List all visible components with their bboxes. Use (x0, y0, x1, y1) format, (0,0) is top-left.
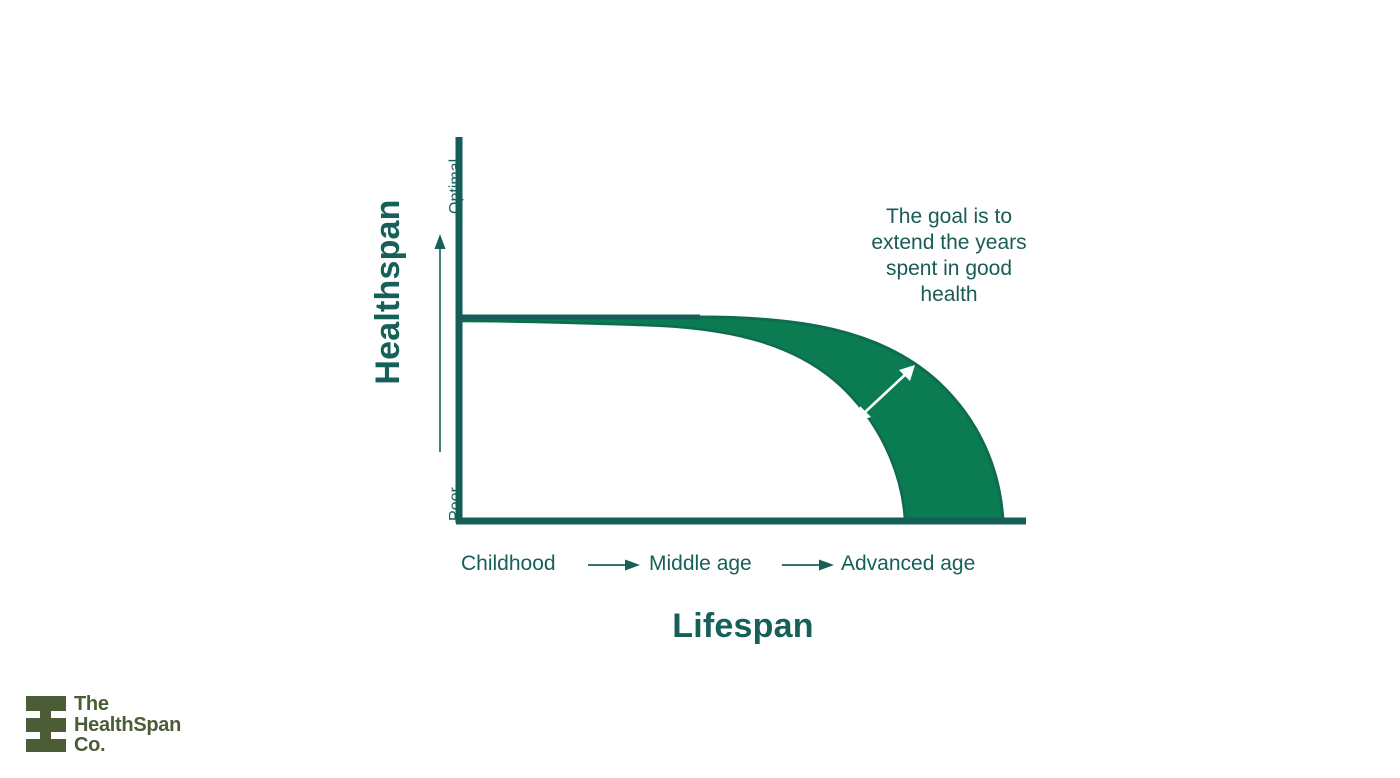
up-arrow-icon (435, 234, 446, 249)
healthspan-gain-area (460, 317, 1003, 521)
goal-annotation-text: The goal is to extend the years spent in… (861, 204, 1037, 308)
y-axis-high-label: Optimal (447, 159, 465, 214)
i-beam-icon (26, 696, 66, 752)
x-tick-label-advanced-age: Advanced age (841, 552, 975, 576)
brand-logo-text: The HealthSpan Co. (74, 694, 181, 756)
healthspan-lifespan-chart (0, 0, 1400, 778)
brand-logo: The HealthSpan Co. (26, 694, 256, 756)
logo-line-2: HealthSpan (74, 715, 181, 736)
y-axis-low-label: Poor (447, 487, 465, 521)
right-arrow-icon (625, 560, 640, 571)
y-axis-title: Healthspan (368, 132, 408, 452)
x-tick-label-childhood: Childhood (461, 552, 556, 576)
logo-line-1: The (74, 694, 181, 715)
right-arrow-icon (819, 560, 834, 571)
logo-line-3: Co. (74, 735, 181, 756)
x-axis-title: Lifespan (458, 602, 1028, 650)
x-tick-label-middle-age: Middle age (649, 552, 752, 576)
